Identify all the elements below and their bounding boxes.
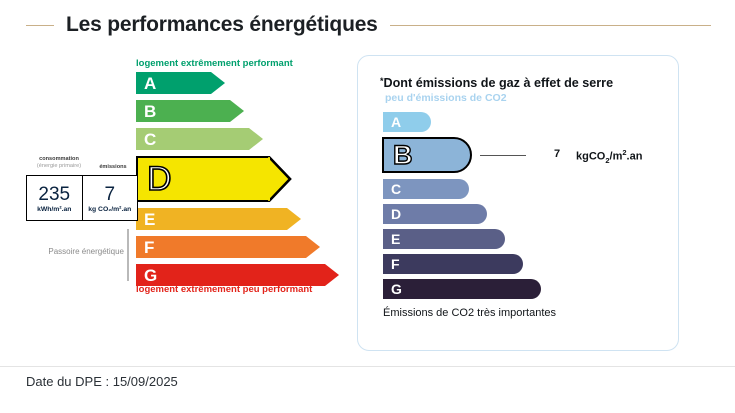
header-rule-left [26,25,54,26]
consumption-cell: 235 kWh/m².an [27,176,82,220]
consumption-unit: kWh/m².an [37,206,71,213]
co2-bar-b-selected: B [382,137,472,173]
emissions-unit: kg CO₂/m².an [88,206,131,213]
co2-emissions-panel: *Dont émissions de gaz à effet de serre … [357,55,679,351]
co2-bar-letter: D [391,207,401,221]
co2-bar-g: G [383,279,541,299]
energy-bar-arrow-tip [268,156,292,202]
co2-unit: kgCO2/m2.an [576,148,642,165]
energy-bar-arrow-tip [211,72,225,94]
energy-bar-body: G [136,264,325,286]
co2-bar-d: D [383,204,487,224]
energy-bar-letter: E [144,211,155,228]
page-header: Les performances énergétiques [0,8,735,42]
energy-bar-body: E [136,208,287,230]
consumption-caption: consommation (énergie primaire) [30,156,88,170]
emissions-value: 7 [104,185,115,205]
co2-unit-prefix: kgCO [576,151,605,163]
energy-bar-body: B [136,100,230,122]
co2-unit-suffix: /m [610,151,623,163]
co2-bar-letter: G [391,282,402,296]
energy-bar-arrow-tip [287,208,301,230]
energy-bar-arrow-tip [306,236,320,258]
energy-bar-g: G [136,264,339,286]
co2-bar-f: F [383,254,523,274]
energy-bar-letter: D [147,162,172,196]
co2-bar-letter: E [391,232,400,246]
energy-bar-a: A [136,72,225,94]
dpe-widget: Les performances énergétiques logement e… [0,0,735,413]
co2-panel-title-text: Dont émissions de gaz à effet de serre [384,76,614,90]
co2-unit-tail: .an [627,151,643,163]
co2-bar-letter: B [393,142,413,169]
energy-bar-arrow-tip [230,100,244,122]
energy-bar-body: F [136,236,306,258]
co2-bar-letter: A [391,115,401,129]
energy-bar-letter: B [144,103,156,120]
energy-value-box: 235 kWh/m².an 7 kg CO₂/m².an [26,175,138,221]
energy-bar-letter: F [144,239,154,256]
co2-leader-line [480,155,526,156]
energy-bar-letter: A [144,75,156,92]
co2-panel-subtitle: peu d'émissions de CO2 [385,92,507,104]
page-title: Les performances énergétiques [66,13,378,37]
energy-bar-arrow-tip [249,128,263,150]
energy-caption-top: logement extrêmement performant [136,58,293,69]
emissions-caption-main: émissions [99,164,126,170]
energy-bar-e: E [136,208,301,230]
co2-bar-letter: F [391,257,400,271]
consumption-caption-sub: (énergie primaire) [30,163,88,170]
emissions-cell: 7 kg CO₂/m².an [82,176,138,220]
energy-bar-f: F [136,236,320,258]
energy-bar-c: C [136,128,263,150]
co2-panel-footer: Émissions de CO2 très importantes [383,307,556,319]
footer-divider [0,366,735,367]
energy-bar-arrow-tip [325,264,339,286]
header-rule-right [390,25,711,26]
energy-bar-letter: C [144,131,156,148]
passoire-label: Passoire énergétique [38,247,124,256]
co2-panel-title: *Dont émissions de gaz à effet de serre [380,76,613,90]
passoire-bracket [127,229,129,281]
energy-bar-b: B [136,100,244,122]
co2-value: 7 [554,148,560,160]
energy-bar-letter: G [144,267,157,284]
energy-bar-body: C [136,128,249,150]
co2-bar-a: A [383,112,431,132]
consumption-value: 235 [38,185,70,205]
energy-bar-d-selected: D [136,156,292,202]
co2-bar-letter: C [391,182,401,196]
energy-bar-body: A [136,72,211,94]
energy-bar-body: D [136,156,268,202]
co2-bar-e: E [383,229,505,249]
energy-performance-chart: logement extrêmement performant logement… [26,52,346,312]
consumption-caption-main: consommation [39,156,79,162]
co2-bar-c: C [383,179,469,199]
emissions-caption: émissions [88,164,138,171]
dpe-date: Date du DPE : 15/09/2025 [26,374,178,389]
